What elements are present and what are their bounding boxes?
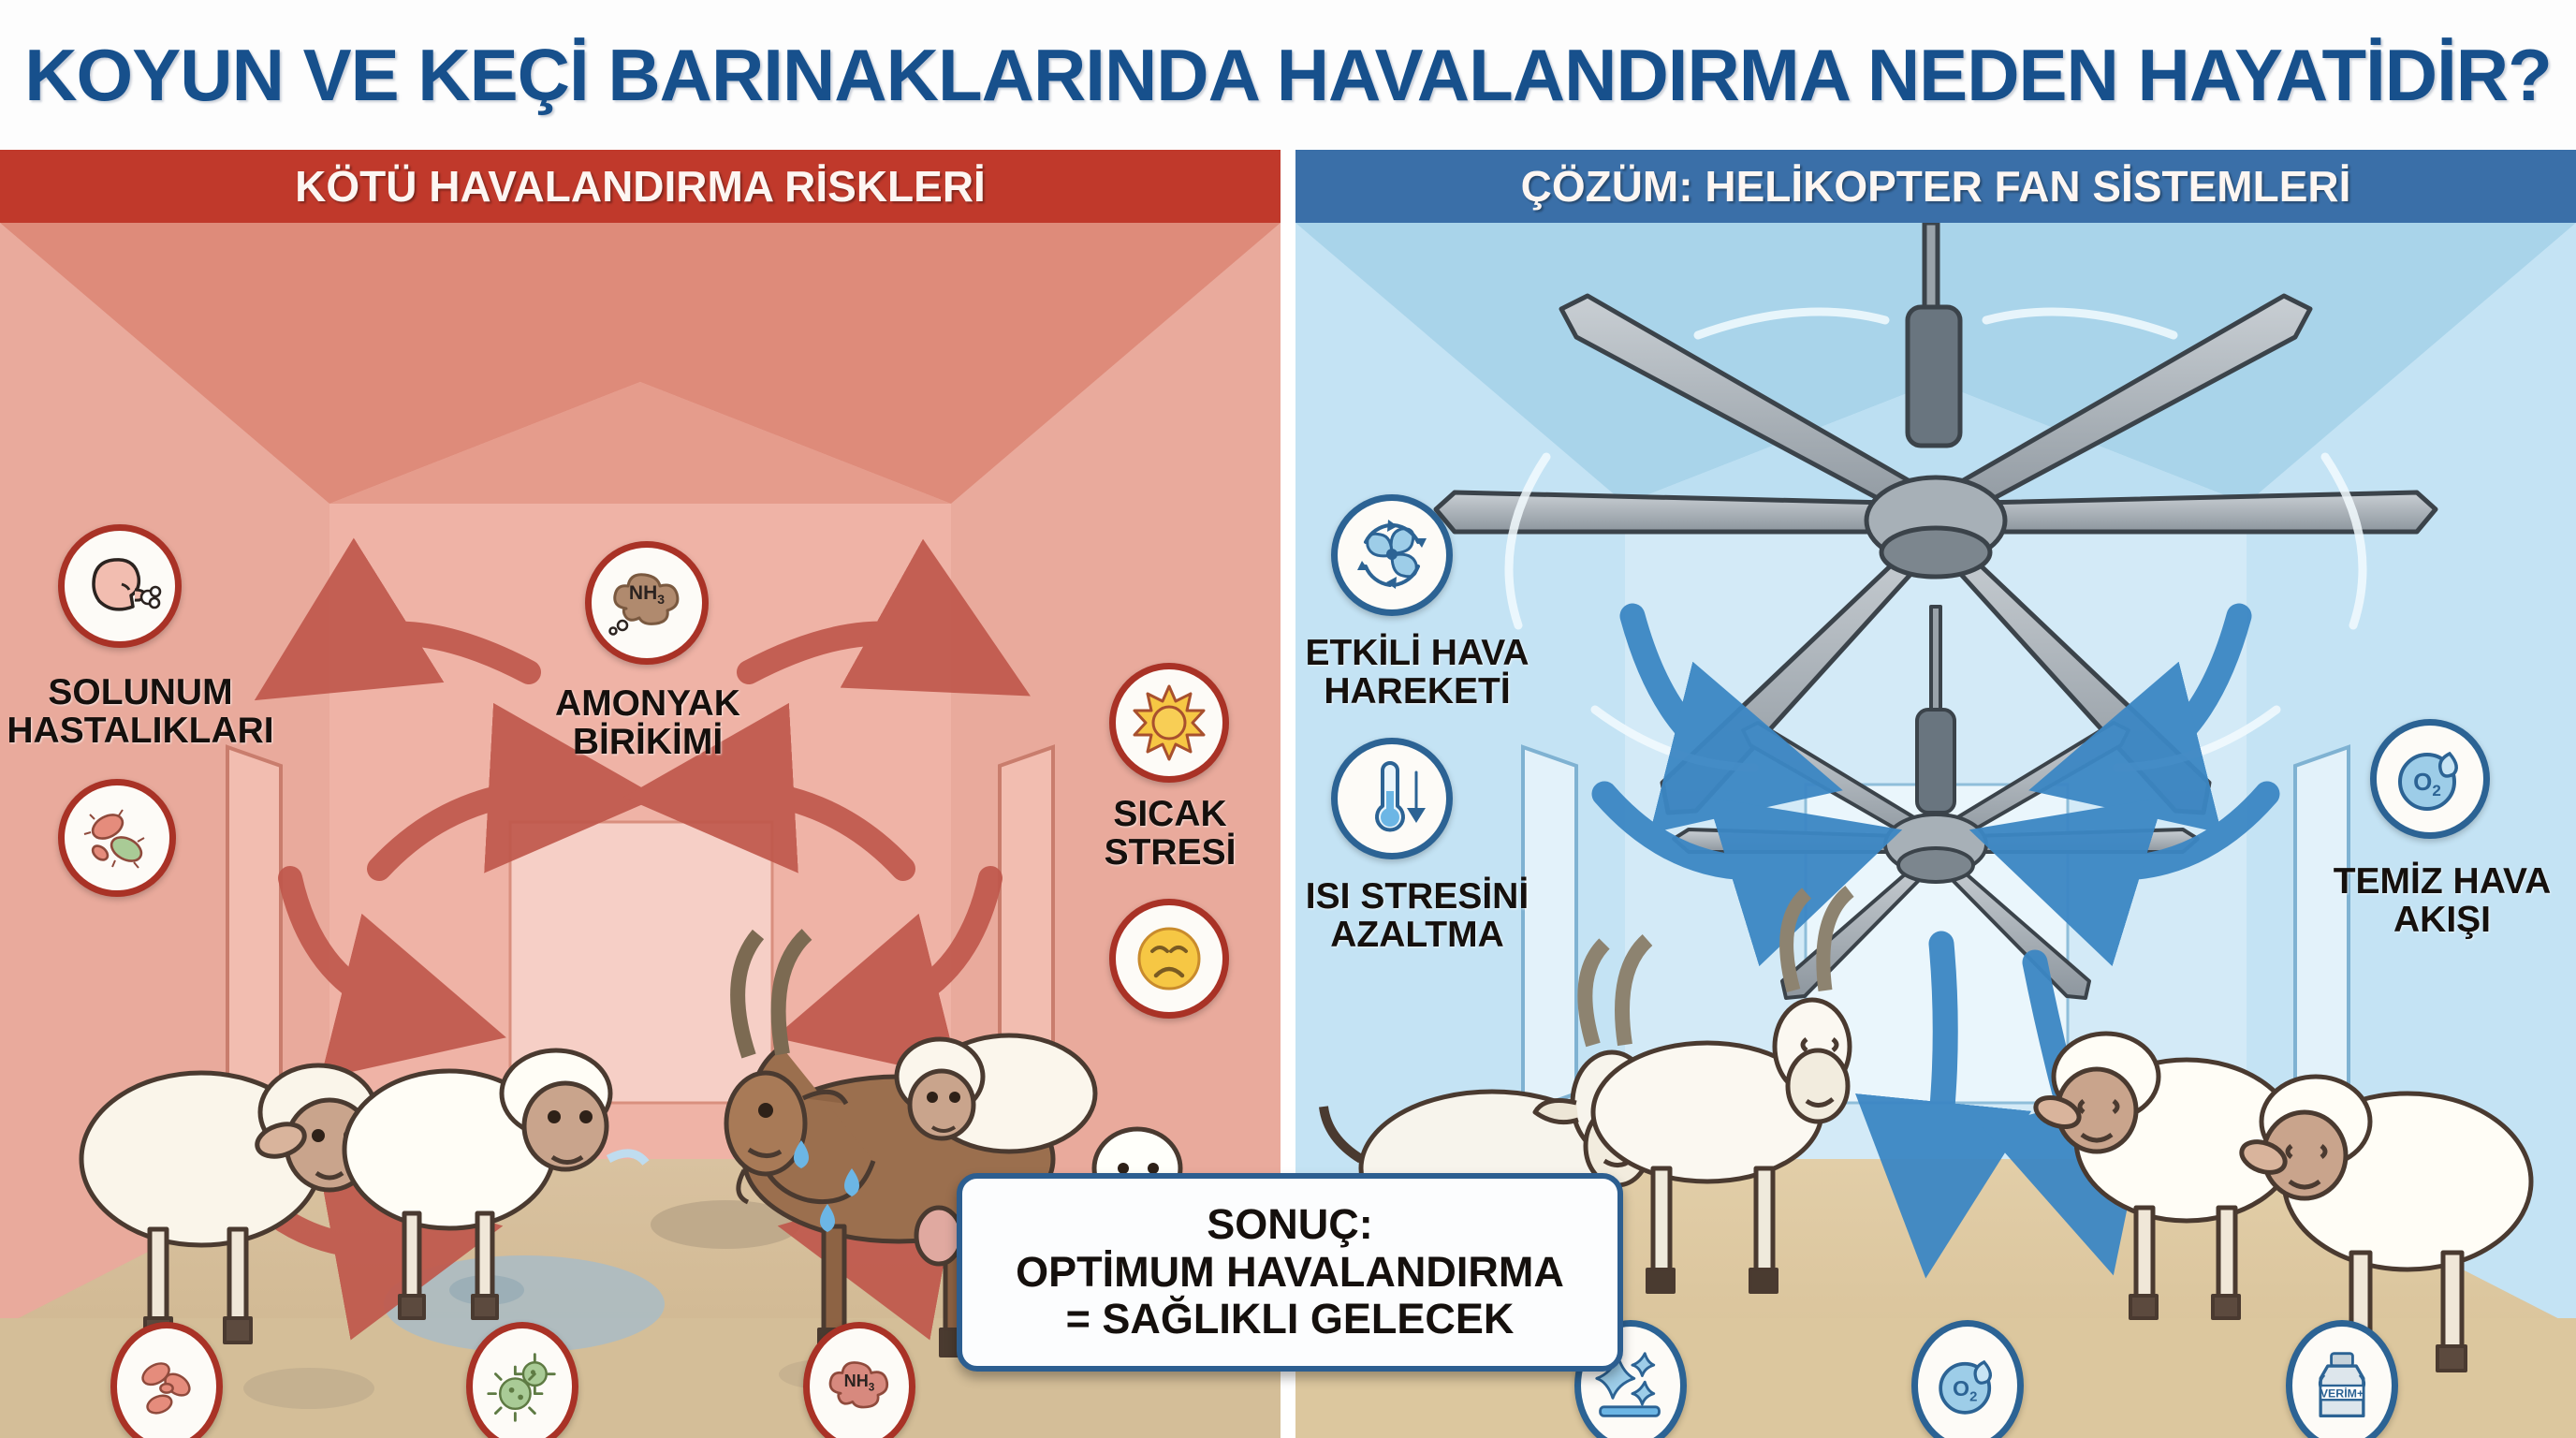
page-title-text: KOYUN VE KEÇİ BARINAKLARINDA HAVALANDIRM… [24, 33, 2552, 118]
result-box: SONUÇ: OPTİMUM HAVALANDIRMA = SAĞLIKLI G… [957, 1173, 1623, 1372]
result-line-1: SONUÇ: [1207, 1201, 1373, 1248]
solution-callout-label-heat-reduction: ISI STRESİNİ AZALTMA [1295, 878, 1576, 955]
sun-glyph [1129, 682, 1209, 763]
fan-circulation-icon [1331, 494, 1453, 616]
nh3-cloud-glyph-2: NH3 [820, 1351, 899, 1422]
milk-can-glyph: VERİM+ [2305, 1348, 2379, 1423]
o2-droplet-glyph-2: O2 [1930, 1348, 2005, 1423]
solution-panel-header-text: ÇÖZÜM: HELİKOPTER FAN SİSTEMLERİ [1521, 161, 2351, 212]
solution-panel-header: ÇÖZÜM: HELİKOPTER FAN SİSTEMLERİ [1295, 150, 2576, 223]
coughing-head-icon [58, 524, 182, 648]
mold-spore-glyph [485, 1349, 560, 1424]
risk-callout-label-heat: SICAK STRESİ [1039, 796, 1281, 873]
sun-icon [1109, 663, 1229, 783]
sad-face-icon [1109, 899, 1229, 1019]
risk-callout-label-respiratory: SOLUNUM HASTALIKLARI [0, 674, 281, 751]
risk-panel-header: KÖTÜ HAVALANDIRMA RİSKLERİ [0, 150, 1281, 223]
o2-droplet-glyph: O2 [2390, 739, 2470, 819]
nh3-cloud-icon: NH3 [585, 541, 709, 665]
nh3-cloud-glyph: NH3 [604, 564, 690, 642]
solution-callout-label-airflow: ETKİLİ HAVA HAREKETİ [1295, 635, 1576, 712]
result-line-2: OPTİMUM HAVALANDIRMA [1016, 1249, 1564, 1296]
coughing-head-glyph [80, 547, 159, 625]
solution-callout-label-fresh-air: TEMİZ HAVA AKIŞI [2302, 863, 2576, 940]
thermometer-down-icon [1331, 738, 1453, 859]
risk-callout-label-ammonia: AMONYAK BİRİKİMİ [470, 685, 826, 762]
risk-panel-header-text: KÖTÜ HAVALANDIRMA RİSKLERİ [295, 161, 986, 212]
result-line-3: = SAĞLIKLI GELECEK [1066, 1296, 1515, 1343]
infographic-poster: KOYUN VE KEÇİ BARINAKLARINDA HAVALANDIRM… [0, 0, 2576, 1438]
page-title: KOYUN VE KEÇİ BARINAKLARINDA HAVALANDIRM… [0, 0, 2576, 150]
svg-text:VERİM+: VERİM+ [2320, 1386, 2364, 1400]
fan-circulation-glyph [1351, 514, 1433, 596]
bacteria-icon [58, 779, 176, 897]
bacteria-glyph [78, 799, 156, 877]
thermometer-down-glyph [1351, 757, 1433, 840]
sad-face-glyph [1130, 919, 1208, 998]
bacteria-glyph-2 [129, 1349, 204, 1424]
o2-droplet-icon: O2 [2370, 719, 2490, 839]
